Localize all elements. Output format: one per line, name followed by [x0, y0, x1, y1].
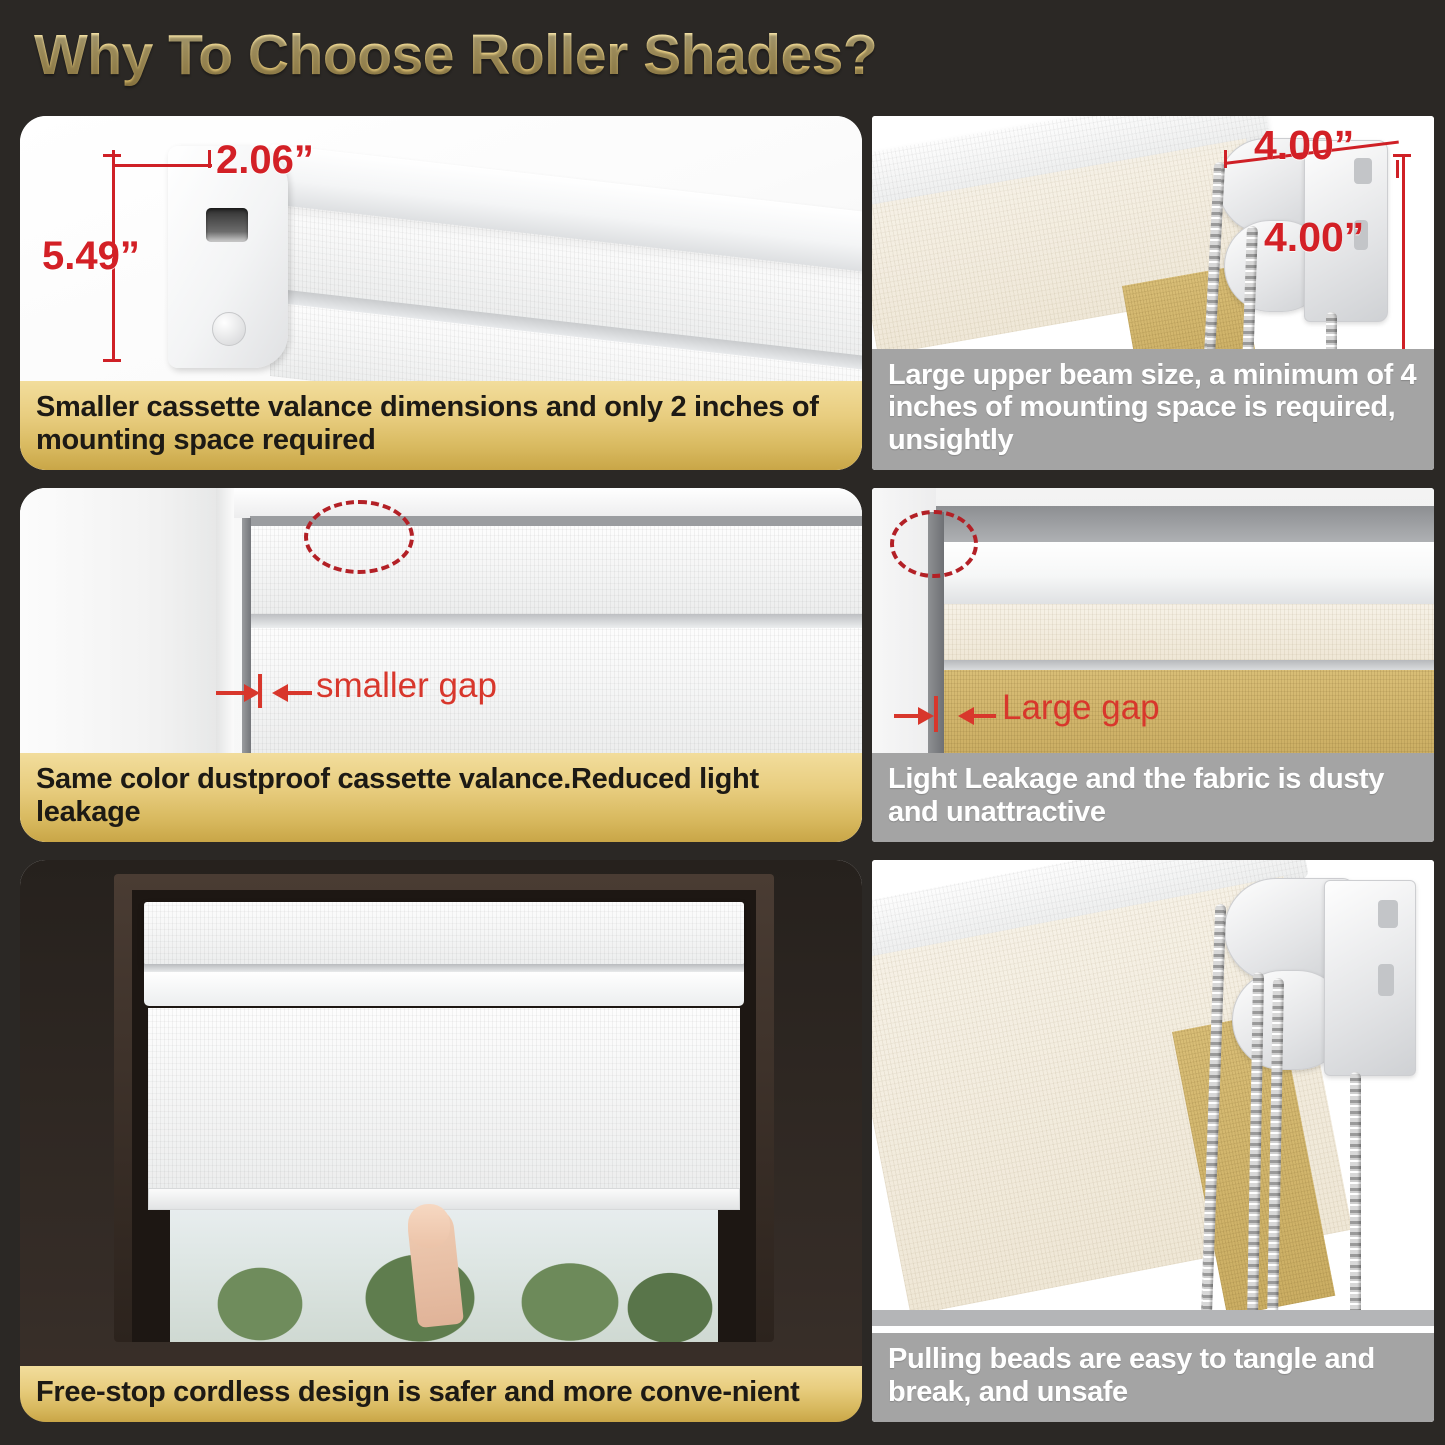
largegap-arrow-left: [958, 707, 974, 725]
cordless-roller-lip: [144, 972, 744, 1006]
beam-height-tick-top: [1393, 154, 1411, 157]
width-dimension-label: 2.06”: [216, 138, 314, 183]
gap-label-small: smaller gap: [316, 666, 497, 706]
width-dim-line: [112, 164, 212, 167]
caption-pro-dustproof-valance: Same color dustproof cassette valance.Re…: [20, 753, 862, 842]
pull-bead-chain-4: [1350, 1072, 1361, 1322]
cordless-valance-lip: [144, 964, 744, 972]
caption-pro-valance-size: Smaller cassette valance dimensions and …: [20, 381, 862, 470]
upper-shadow-band: [936, 506, 1434, 542]
caption-pro-cordless: Free-stop cordless design is safer and m…: [20, 1366, 862, 1422]
height-dimension-label: 5.49”: [42, 234, 140, 279]
window-casing-edge: [216, 488, 234, 756]
photo-window-tight-fit: smaller gap Same color dustproof cassett…: [20, 488, 862, 842]
caption-con-light-leakage: Light Leakage and the fabric is dusty an…: [872, 753, 1434, 842]
caption-con-beam-size: Large upper beam size, a minimum of 4 in…: [872, 349, 1434, 470]
photo-large-beam: 4.00” 4.00” Large upper beam size, a min…: [872, 116, 1434, 470]
largegap-bar-marker: [934, 696, 938, 732]
gap-bar-marker: [258, 674, 262, 708]
largegap-stem-right: [974, 714, 996, 718]
gap-column-small: [242, 518, 251, 756]
beam-width-tick-left: [1224, 150, 1227, 168]
cordless-shade-body: [148, 1008, 740, 1190]
panel-con-beam-size: 4.00” 4.00” Large upper beam size, a min…: [872, 116, 1434, 470]
end-cap-screw: [212, 312, 246, 346]
photo-pull-beads: Pulling beads are easy to tangle and bre…: [872, 860, 1434, 1422]
window-casing-left: [20, 488, 216, 756]
largegap-arrow-right: [918, 707, 934, 725]
width-dim-tick-right: [208, 150, 211, 168]
panel-pro-valance-size: 5.49” 2.06” Smaller cassette valance dim…: [20, 116, 862, 470]
roller-tube-white: [936, 542, 1434, 604]
hand-fingers: [408, 1204, 450, 1248]
page-title: Why To Choose Roller Shades?: [34, 22, 877, 88]
height-dim-tick-bottom: [103, 359, 121, 362]
fabric-cream-band: [936, 604, 1434, 660]
leak-highlight-ellipse: [890, 510, 978, 578]
comparison-row-1: 5.49” 2.06” Smaller cassette valance dim…: [0, 108, 1445, 480]
gap-label-large: Large gap: [1002, 688, 1160, 728]
end-cap-slot: [206, 208, 248, 242]
width-dim-tick-left: [112, 150, 115, 168]
photo-cordless-window: Free-stop cordless design is safer and m…: [20, 860, 862, 1422]
gap-arrow-stem-left: [216, 691, 246, 695]
bottom-rail-edge: [936, 660, 1434, 670]
beads-bracket-slot-top: [1378, 900, 1398, 928]
photo-cassette-valance: 5.49” 2.06” Smaller cassette valance dim…: [20, 116, 862, 470]
comparison-row-2: smaller gap Same color dustproof cassett…: [0, 480, 1445, 852]
gap-arrow-left: [272, 684, 288, 702]
panel-pro-dustproof-valance: smaller gap Same color dustproof cassett…: [20, 488, 862, 842]
panel-con-light-leakage: Large gap Light Leakage and the fabric i…: [872, 488, 1434, 842]
largegap-stem-left: [894, 714, 920, 718]
beam-width-label: 4.00”: [1254, 122, 1354, 169]
valance-bottom-lip: [250, 614, 862, 628]
panel-pro-cordless: Free-stop cordless design is safer and m…: [20, 860, 862, 1422]
beam-height-dim-line: [1402, 154, 1405, 356]
panel-con-pull-beads: Pulling beads are easy to tangle and bre…: [872, 860, 1434, 1422]
beam-width-tick-right: [1396, 160, 1399, 178]
caption-con-pull-beads: Pulling beads are easy to tangle and bre…: [872, 1333, 1434, 1422]
beads-bracket-slot-bottom: [1378, 964, 1394, 996]
beads-bracket-plate: [1324, 880, 1416, 1076]
bracket-slot-top: [1354, 158, 1372, 184]
comparison-grid: 5.49” 2.06” Smaller cassette valance dim…: [0, 108, 1445, 1432]
cordless-bottom-rail: [148, 1188, 740, 1210]
comparison-row-3: Free-stop cordless design is safer and m…: [0, 852, 1445, 1432]
cordless-valance: [144, 902, 744, 966]
seam-highlight-ellipse: [304, 500, 414, 574]
infographic-page: Why To Choose Roller Shades?: [0, 0, 1445, 1445]
gap-arrow-stem-right: [288, 691, 312, 695]
floor-shadow-band: [872, 1310, 1434, 1326]
photo-light-leakage: Large gap Light Leakage and the fabric i…: [872, 488, 1434, 842]
beam-height-label: 4.00”: [1264, 214, 1364, 261]
